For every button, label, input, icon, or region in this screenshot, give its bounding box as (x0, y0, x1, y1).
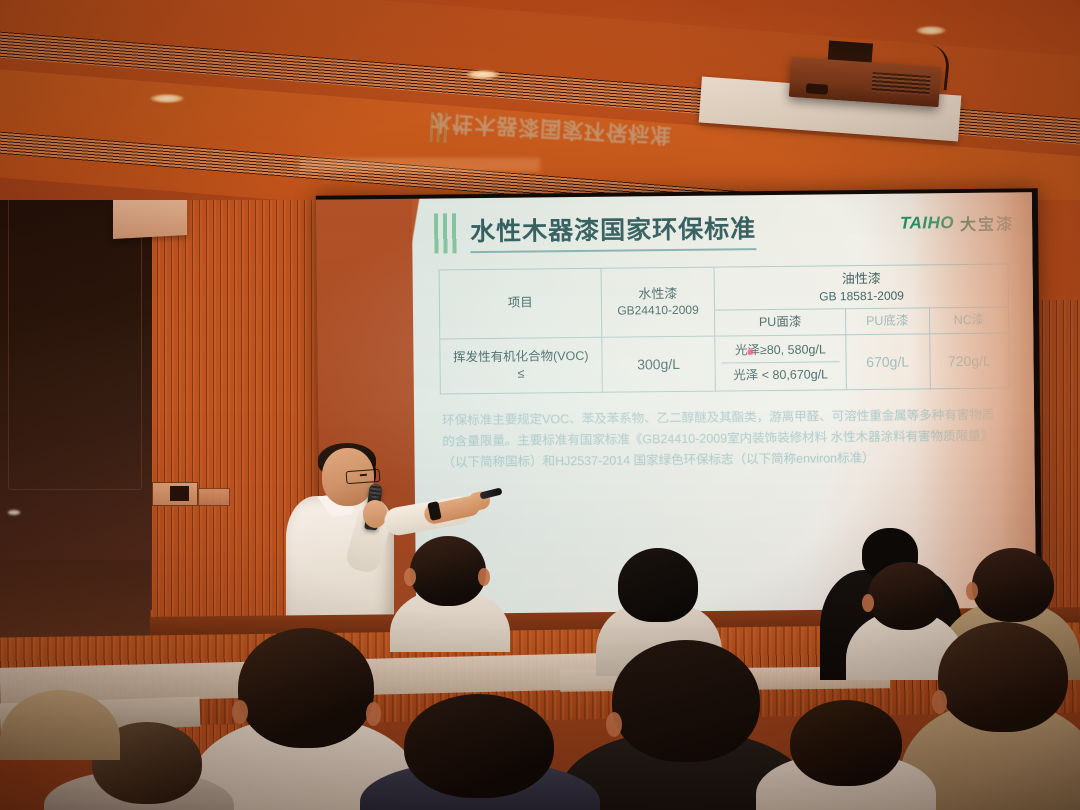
presenter-hand-left (363, 500, 387, 528)
slide-title: 水性木器漆国家环保标准 (470, 209, 756, 253)
photo-canvas: 水性木器漆国家环保标准 水性木器漆国家环保标准 TAIHO 大宝漆 项 (0, 0, 1080, 810)
laser-pointer-dot (747, 349, 754, 355)
header-waterborne: 水性漆 GB24410-2009 (601, 267, 716, 337)
audience-member-ear (606, 712, 622, 737)
cell-pu-topcoat-gloss-low: 光泽 < 80,670g/L (722, 362, 839, 387)
audience-member-head (972, 548, 1054, 622)
glass-door[interactable] (0, 180, 152, 610)
audience-member-ear (232, 700, 248, 724)
audience-member-head (612, 640, 760, 762)
ceiling-light-glow (300, 158, 540, 172)
audience-member-ear (404, 568, 416, 586)
header-waterborne-name: 水性漆 (607, 285, 708, 304)
audience-member-head (790, 700, 902, 786)
ceiling-downlight (916, 26, 946, 35)
header-pu-topcoat: PU面漆 (715, 308, 845, 335)
glasses-icon (346, 469, 381, 484)
audience-member-ear (478, 568, 490, 586)
audience-member-head (404, 694, 554, 798)
audience-member-ear (932, 690, 947, 714)
cell-pu-topcoat-voc: 光泽≥80, 580g/L 光泽 < 80,670g/L (715, 334, 846, 391)
slide-title-group: 水性木器漆国家环保标准 (434, 209, 756, 253)
audience-member-ear (366, 702, 381, 726)
ceiling-downlight (150, 94, 184, 103)
header-item: 项目 (439, 268, 601, 338)
cell-item-voc-name: 挥发性有机化合物(VOC) (446, 348, 595, 366)
control-panel-screen (170, 486, 189, 501)
audience-member-head (868, 562, 944, 630)
audience-member-head (618, 548, 698, 622)
audience-member-ear (862, 594, 874, 612)
glass-reflection (8, 510, 20, 515)
audience-member-ear (966, 582, 978, 600)
title-accent-bars-icon (434, 213, 460, 253)
cell-item-voc-note: ≤ (447, 365, 596, 383)
ceiling-downlight (466, 70, 500, 79)
header-waterborne-standard: GB24410-2009 (608, 302, 709, 319)
audience-member-head (938, 622, 1068, 732)
wall-control-panel[interactable] (152, 482, 198, 506)
cell-waterborne-voc: 300g/L (601, 336, 715, 393)
cell-pu-topcoat-gloss-high: 光泽≥80, 580g/L (722, 339, 839, 361)
audience-member-head (410, 536, 486, 606)
wall-switch-plate[interactable] (198, 488, 230, 506)
projector-lens (806, 83, 829, 95)
cell-item-voc: 挥发性有机化合物(VOC) ≤ (440, 337, 602, 394)
audience-member-head (238, 628, 374, 748)
